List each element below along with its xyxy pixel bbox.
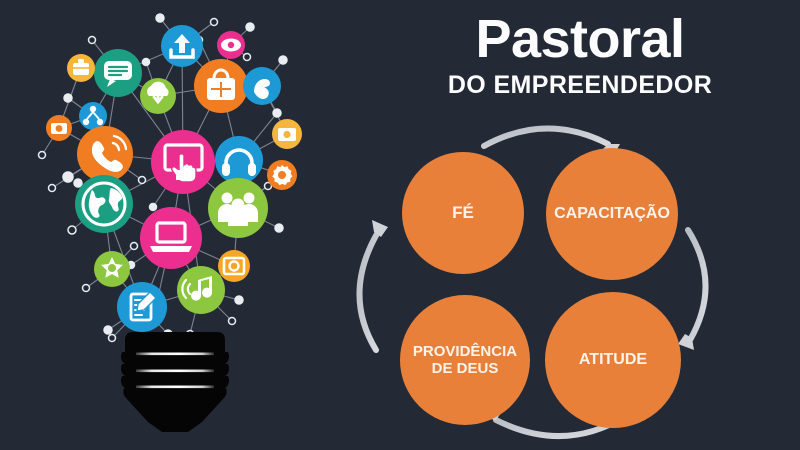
- globe-icon: [75, 175, 133, 233]
- briefcase-icon: [67, 54, 95, 82]
- cycle-diagram: FÉ CAPACITAÇÃO PROVIDÊNCIA DE DEUS ATITU…: [350, 120, 770, 450]
- photo-icon: [272, 119, 302, 149]
- shopping-bag-icon: [194, 59, 248, 113]
- cycle-node-fe-label: FÉ: [446, 203, 480, 223]
- cycle-node-atitude[interactable]: ATITUDE: [545, 292, 681, 428]
- upload-icon: [161, 25, 203, 67]
- monitor-touch-icon: [151, 130, 215, 194]
- cycle-node-providencia-label: PROVIDÊNCIA DE DEUS: [407, 343, 523, 378]
- star-badge-icon: [94, 251, 130, 287]
- music-note-icon: [177, 266, 225, 314]
- camera-icon: [46, 115, 72, 141]
- cloud-download-icon: [140, 78, 176, 114]
- phone-ring-icon: [77, 126, 133, 182]
- title-block: Pastoral DO EMPREENDEDOR: [380, 10, 780, 100]
- headphones-icon: [215, 136, 263, 184]
- cycle-node-fe[interactable]: FÉ: [402, 152, 524, 274]
- cycle-node-capacitacao[interactable]: CAPACITAÇÃO: [546, 148, 678, 280]
- arrow-capacitacao-to-atitude: [678, 230, 706, 350]
- bird-icon: [243, 67, 281, 105]
- cycle-node-atitude-label: ATITUDE: [573, 351, 653, 369]
- retro-camera-icon: [218, 250, 250, 282]
- page-title: Pastoral: [380, 10, 780, 68]
- cycle-node-providencia-line2: DE DEUS: [432, 360, 499, 377]
- share-icon: [79, 102, 107, 130]
- page-subtitle: DO EMPREENDEDOR: [380, 70, 780, 100]
- cycle-node-capacitacao-label: CAPACITAÇÃO: [548, 205, 676, 223]
- cycle-node-providencia[interactable]: PROVIDÊNCIA DE DEUS: [400, 295, 530, 425]
- laptop-icon: [140, 207, 202, 269]
- cycle-node-providencia-line1: PROVIDÊNCIA: [413, 343, 517, 360]
- chat-bubble-icon: [94, 49, 142, 97]
- network-lightbulb-illustration: [0, 0, 350, 450]
- slide-canvas: Pastoral DO EMPREENDEDOR: [0, 0, 800, 450]
- gear-icon: [267, 160, 297, 190]
- eye-icon: [217, 31, 245, 59]
- notes-icon: [117, 282, 167, 332]
- arrow-providencia-to-fe: [359, 220, 388, 350]
- lightbulb-base: [121, 332, 229, 432]
- people-group-icon: [208, 178, 268, 238]
